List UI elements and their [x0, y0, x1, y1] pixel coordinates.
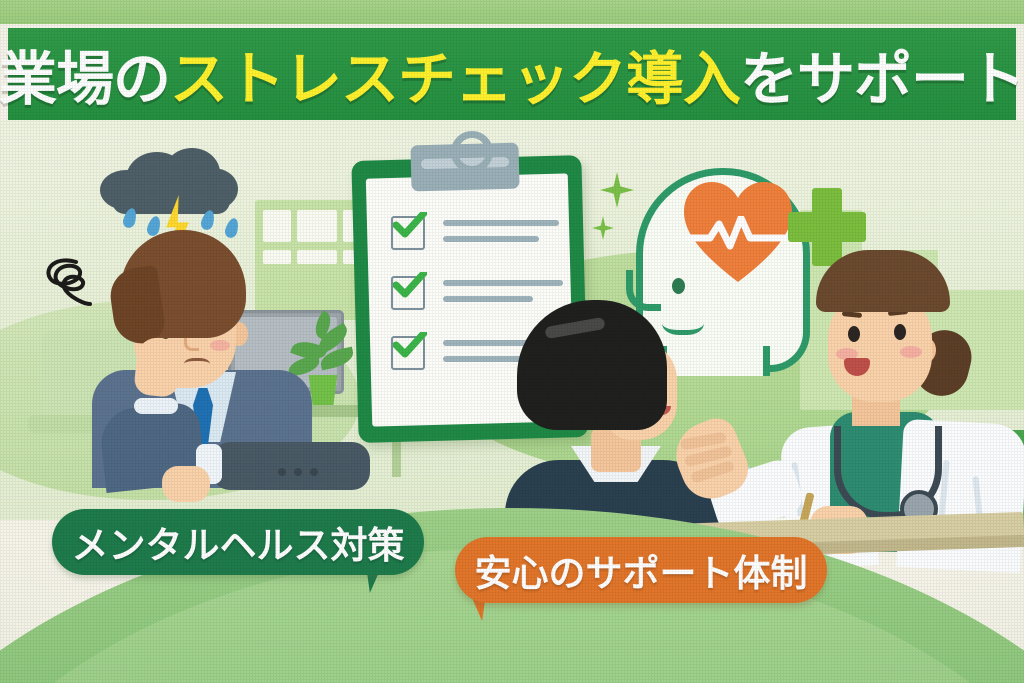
page-title: 事業場のストレスチェック導入をサポート！ — [0, 32, 1024, 116]
check-icon — [393, 212, 427, 238]
top-strip — [0, 0, 1024, 24]
doctor-hair — [816, 250, 950, 312]
poster-canvas: 事業場のストレスチェック導入をサポート！ — [0, 0, 1024, 683]
check-icon — [393, 332, 427, 358]
title-part-2: をサポート！ — [740, 47, 1024, 112]
title-part-highlight: ストレスチェック導入 — [170, 47, 740, 112]
stress-swirl-icon — [38, 252, 100, 314]
bubble-support-system[interactable]: 安心のサポート体制 — [455, 537, 827, 603]
stressed-office-worker — [92, 230, 312, 480]
heartbeat-line-icon — [686, 216, 790, 252]
title-part-1: 事業場の — [0, 47, 170, 112]
bubble-mental-health[interactable]: メンタルヘルス対策 — [52, 509, 424, 575]
check-icon — [393, 272, 427, 298]
worker-hand — [133, 336, 183, 398]
female-doctor — [790, 250, 1024, 550]
headline-banner: 事業場のストレスチェック導入をサポート！ — [8, 28, 1016, 120]
clipboard-ring — [451, 131, 493, 173]
